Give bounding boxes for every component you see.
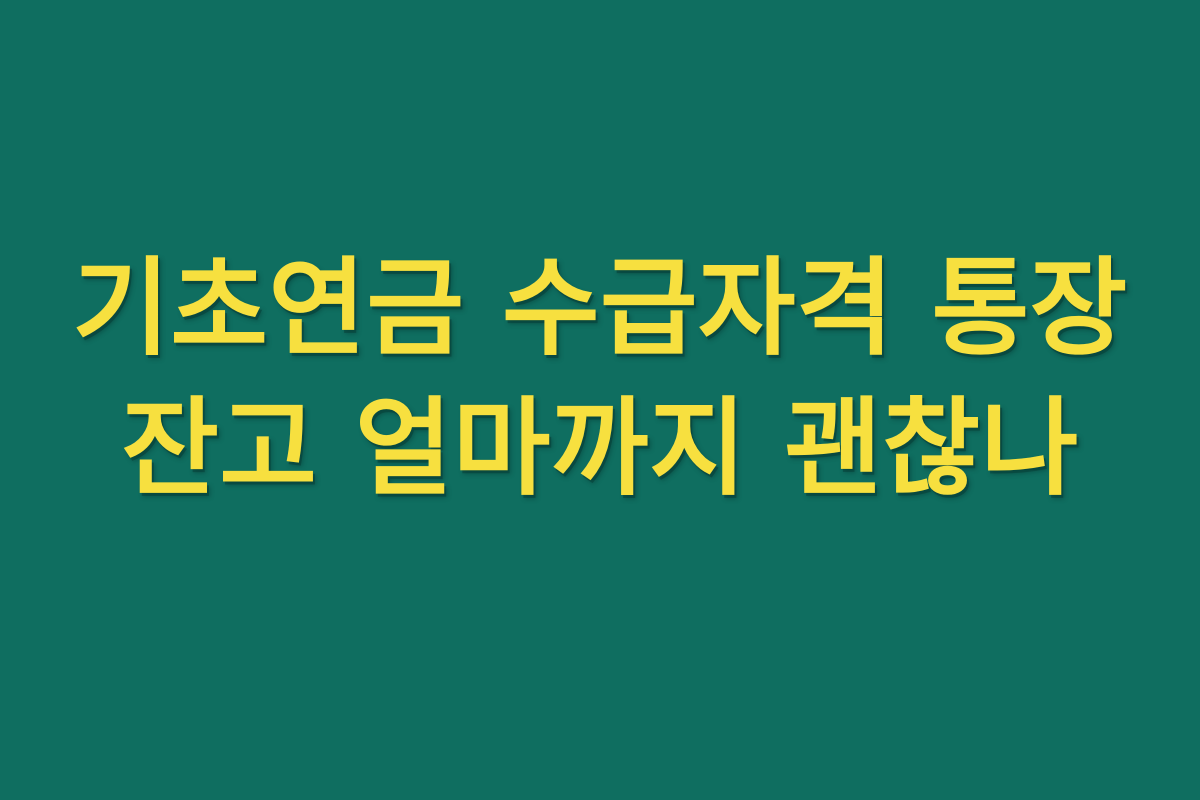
thumbnail-canvas: 기초연금 수급자격 통장 잔고 얼마까지 괜찮나 [0,0,1200,800]
headline-block: 기초연금 수급자격 통장 잔고 얼마까지 괜찮나 [0,239,1200,519]
headline-line-1: 기초연금 수급자격 통장 [0,239,1200,379]
headline-line-2: 잔고 얼마까지 괜찮나 [0,379,1200,519]
